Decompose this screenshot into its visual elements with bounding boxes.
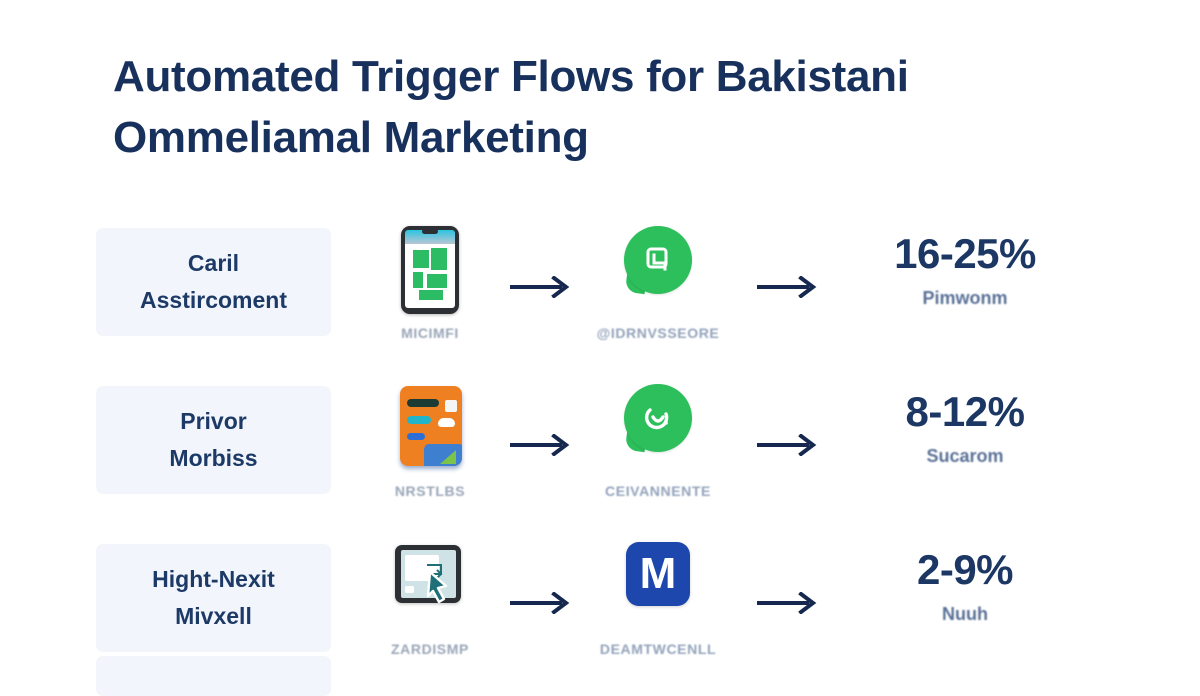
flow-step-a: NRSTLBS (350, 382, 510, 499)
flow-row-stat: 8-12% Sucarom (840, 388, 1090, 467)
flow-row-label-line-2: Asstircoment (140, 282, 287, 319)
flow-step-a-caption: MICIMFI (401, 325, 459, 341)
flow-step-a: MICIMFI (350, 224, 510, 341)
flow-row-label: Caril Asstircoment (130, 245, 297, 319)
flow-row-label-line-2: Mivxell (152, 598, 275, 635)
page-title-line-2: Ommeliamal Marketing (113, 107, 1073, 168)
flow-row-label-line-1: Hight-Nexit (152, 561, 275, 598)
flow-step-a-caption: ZARDISMP (391, 641, 469, 657)
tablet-green-blocks-icon (382, 224, 478, 316)
stat-caption: Sucarom (840, 446, 1090, 467)
page-title: Automated Trigger Flows for Bakistani Om… (113, 46, 1073, 168)
flow-row-label-card: Hight-Nexit Mivxell (96, 544, 331, 652)
flow-row-stat: 16-25% Pimwonm (840, 230, 1090, 309)
whatsapp-bubble-icon (610, 224, 706, 316)
flow-step-a-caption: NRSTLBS (395, 483, 465, 499)
flow-row-label-card-partial (96, 656, 331, 696)
arrow-right-icon (755, 434, 825, 456)
stat-caption: Nuuh (840, 604, 1090, 625)
arrow-right-icon (508, 592, 578, 614)
stat-caption: Pimwonm (840, 288, 1090, 309)
orange-card-icon (382, 382, 478, 474)
flow-row-label: Privor Morbiss (159, 403, 267, 477)
flow-step-b-caption: @IDRNVSSEORE (597, 325, 720, 341)
arrow-right-icon (508, 434, 578, 456)
flow-row-label-line-1: Caril (140, 245, 287, 282)
m-letter-glyph: M (640, 552, 677, 596)
stat-value: 8-12% (840, 388, 1090, 436)
flow-step-b: @IDRNVSSEORE (578, 224, 738, 341)
flow-step-a: ZARDISMP (350, 540, 510, 657)
flow-row-stat: 2-9% Nuuh (840, 546, 1090, 625)
arrow-right-icon (508, 276, 578, 298)
flow-step-b: M DEAMTWCENLL (578, 540, 738, 657)
flow-row: Privor Morbiss NRSTLBS (0, 376, 1200, 534)
flow-step-b-caption: CEIVANNENTE (605, 483, 711, 499)
flow-row-label-card: Caril Asstircoment (96, 228, 331, 336)
arrow-right-icon (755, 276, 825, 298)
page-title-line-1: Automated Trigger Flows for Bakistani (113, 46, 1073, 107)
blue-m-app-icon: M (610, 540, 706, 632)
whatsapp-bubble-icon (610, 382, 706, 474)
flow-step-b-caption: DEAMTWCENLL (600, 641, 716, 657)
flow-row-label: Hight-Nexit Mivxell (142, 561, 285, 635)
stat-value: 2-9% (840, 546, 1090, 594)
arrow-right-icon (755, 592, 825, 614)
flow-row-label-line-1: Privor (169, 403, 257, 440)
flow-row-label-card: Privor Morbiss (96, 386, 331, 494)
flow-row-label-line-2: Morbiss (169, 440, 257, 477)
tablet-hand-tap-icon (382, 540, 478, 632)
stat-value: 16-25% (840, 230, 1090, 278)
flow-rows: Caril Asstircoment MICIMFI (0, 218, 1200, 692)
flow-row: Caril Asstircoment MICIMFI (0, 218, 1200, 376)
flow-step-b: CEIVANNENTE (578, 382, 738, 499)
